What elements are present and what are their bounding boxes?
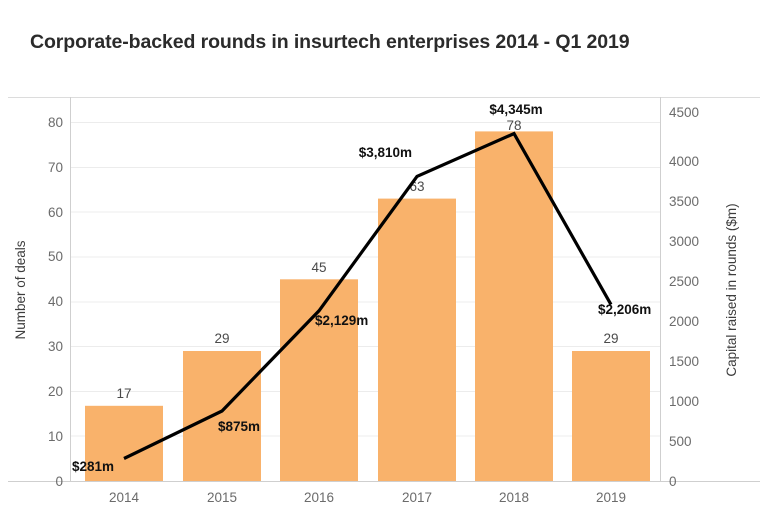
bar-label-2018: 78 bbox=[506, 118, 521, 133]
bar-2017[interactable] bbox=[378, 199, 456, 481]
right-tick-1000: 1000 bbox=[669, 394, 699, 409]
cat-label-2018: 2018 bbox=[499, 490, 529, 505]
bar-label-2019: 29 bbox=[603, 331, 618, 346]
left-tick-40: 40 bbox=[48, 294, 63, 309]
left-tick-60: 60 bbox=[48, 205, 63, 220]
left-tick-80: 80 bbox=[48, 115, 63, 130]
bar-2019[interactable] bbox=[572, 351, 650, 481]
cat-label-2016: 2016 bbox=[304, 490, 334, 505]
left-tick-20: 20 bbox=[48, 384, 63, 399]
chart-plot: 0 10 20 30 40 50 60 70 80 Number of deal… bbox=[0, 0, 768, 525]
cat-label-2015: 2015 bbox=[207, 490, 237, 505]
cat-label-2017: 2017 bbox=[402, 490, 432, 505]
line-label-2017: $3,810m bbox=[359, 145, 412, 160]
bar-series bbox=[85, 131, 650, 481]
chart-container: Corporate-backed rounds in insurtech ent… bbox=[0, 0, 768, 525]
line-label-2016: $2,129m bbox=[315, 313, 368, 328]
bar-label-2014: 17 bbox=[116, 386, 131, 401]
right-tick-4500: 4500 bbox=[669, 105, 699, 120]
bar-label-2015: 29 bbox=[214, 331, 229, 346]
right-tick-3500: 3500 bbox=[669, 194, 699, 209]
right-tick-2000: 2000 bbox=[669, 314, 699, 329]
bar-label-2016: 45 bbox=[311, 260, 326, 275]
line-label-2015: $875m bbox=[218, 419, 260, 434]
line-label-2019: $2,206m bbox=[598, 302, 651, 317]
right-axis-ticks: 0 500 1000 1500 2000 2500 3000 3500 4000… bbox=[669, 105, 699, 489]
left-tick-30: 30 bbox=[48, 339, 63, 354]
right-tick-1500: 1500 bbox=[669, 354, 699, 369]
right-tick-0: 0 bbox=[669, 474, 677, 489]
left-tick-50: 50 bbox=[48, 249, 63, 264]
left-tick-0: 0 bbox=[55, 474, 63, 489]
cat-label-2019: 2019 bbox=[596, 490, 626, 505]
left-axis-ticks: 0 10 20 30 40 50 60 70 80 bbox=[48, 115, 63, 489]
line-label-2014: $281m bbox=[72, 459, 114, 474]
left-tick-70: 70 bbox=[48, 160, 63, 175]
cat-label-2014: 2014 bbox=[109, 490, 140, 505]
right-tick-2500: 2500 bbox=[669, 274, 699, 289]
right-tick-500: 500 bbox=[669, 434, 692, 449]
right-axis-title: Capital raised in rounds ($m) bbox=[724, 203, 739, 376]
bar-2015[interactable] bbox=[183, 351, 261, 481]
left-axis-title: Number of deals bbox=[13, 240, 28, 339]
right-tick-4000: 4000 bbox=[669, 154, 699, 169]
x-axis-category-labels: 2014 2015 2016 2017 2018 2019 bbox=[109, 490, 626, 505]
left-tick-10: 10 bbox=[48, 429, 63, 444]
right-tick-3000: 3000 bbox=[669, 234, 699, 249]
gridlines bbox=[70, 123, 660, 437]
line-label-2018: $4,345m bbox=[489, 102, 542, 117]
